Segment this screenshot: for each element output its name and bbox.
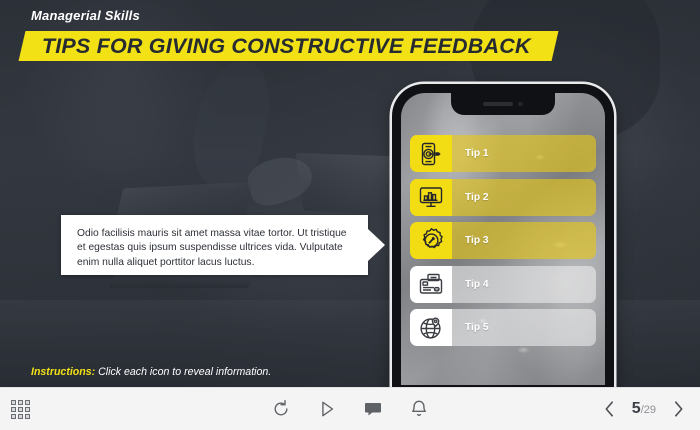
grid-cell: [25, 400, 30, 405]
page-title: TIPS FOR GIVING CONSTRUCTIVE FEEDBACK: [42, 34, 531, 59]
chevron-left-icon[interactable]: [602, 399, 617, 419]
tip-label-3: Tip 3: [465, 235, 489, 246]
phone-screen: Tip 1 Tip 2: [401, 93, 605, 385]
grid-cell: [18, 400, 23, 405]
course-kicker: Managerial Skills: [31, 8, 140, 23]
tip-label-2: Tip 2: [465, 192, 489, 203]
tip-row-5[interactable]: Tip 5: [410, 309, 596, 346]
tip-row-3[interactable]: Tip 3: [410, 222, 596, 259]
tip-label-1: Tip 1: [465, 148, 489, 159]
instructions-label: Instructions:: [31, 366, 95, 378]
grid-cell: [11, 414, 16, 419]
current-page: 5: [632, 400, 641, 417]
tip-row-1[interactable]: Tip 1: [410, 135, 596, 172]
grid-cell: [25, 407, 30, 412]
tip-row-2[interactable]: Tip 2: [410, 179, 596, 216]
credit-card-icon[interactable]: [410, 266, 452, 303]
comment-icon[interactable]: [363, 399, 383, 419]
grid-cell: [18, 407, 23, 412]
chevron-right-icon[interactable]: [671, 399, 686, 419]
phone-notch: [451, 93, 555, 115]
gear-wrench-icon[interactable]: [410, 222, 452, 259]
bell-icon[interactable]: [409, 399, 429, 419]
grid-cell: [11, 407, 16, 412]
globe-pin-icon[interactable]: [410, 309, 452, 346]
callout-text: Odio facilisis mauris sit amet massa vit…: [61, 215, 368, 270]
tip-label-5: Tip 5: [465, 322, 489, 333]
tip-label-4: Tip 4: [465, 279, 489, 290]
pagination: 5/29: [602, 388, 686, 430]
smartphone-target-icon[interactable]: [410, 135, 452, 172]
grid-cell: [25, 414, 30, 419]
replay-icon[interactable]: [271, 399, 291, 419]
info-callout: Odio facilisis mauris sit amet massa vit…: [61, 215, 368, 275]
monitor-bar-chart-icon[interactable]: [410, 179, 452, 216]
tip-row-4[interactable]: Tip 4: [410, 266, 596, 303]
tips-list: Tip 1 Tip 2: [410, 135, 596, 346]
playback-controls: [271, 388, 429, 430]
grid-cell: [18, 414, 23, 419]
bottom-toolbar: 5/29: [0, 387, 700, 430]
callout-arrow: [368, 229, 385, 261]
page-indicator: 5/29: [632, 400, 656, 418]
instructions-line: Instructions: Click each icon to reveal …: [31, 366, 271, 378]
phone-camera-icon: [518, 102, 523, 107]
phone-speaker-icon: [483, 102, 513, 106]
grid-menu-icon[interactable]: [11, 400, 30, 419]
instructions-text: Click each icon to reveal information.: [98, 366, 271, 378]
grid-cell: [11, 400, 16, 405]
play-icon[interactable]: [317, 399, 337, 419]
phone-mockup: Tip 1 Tip 2: [392, 84, 614, 394]
slide-stage: Managerial Skills TIPS FOR GIVING CONSTR…: [0, 0, 700, 430]
total-pages: /29: [641, 404, 656, 416]
page-title-banner: TIPS FOR GIVING CONSTRUCTIVE FEEDBACK: [19, 31, 559, 61]
